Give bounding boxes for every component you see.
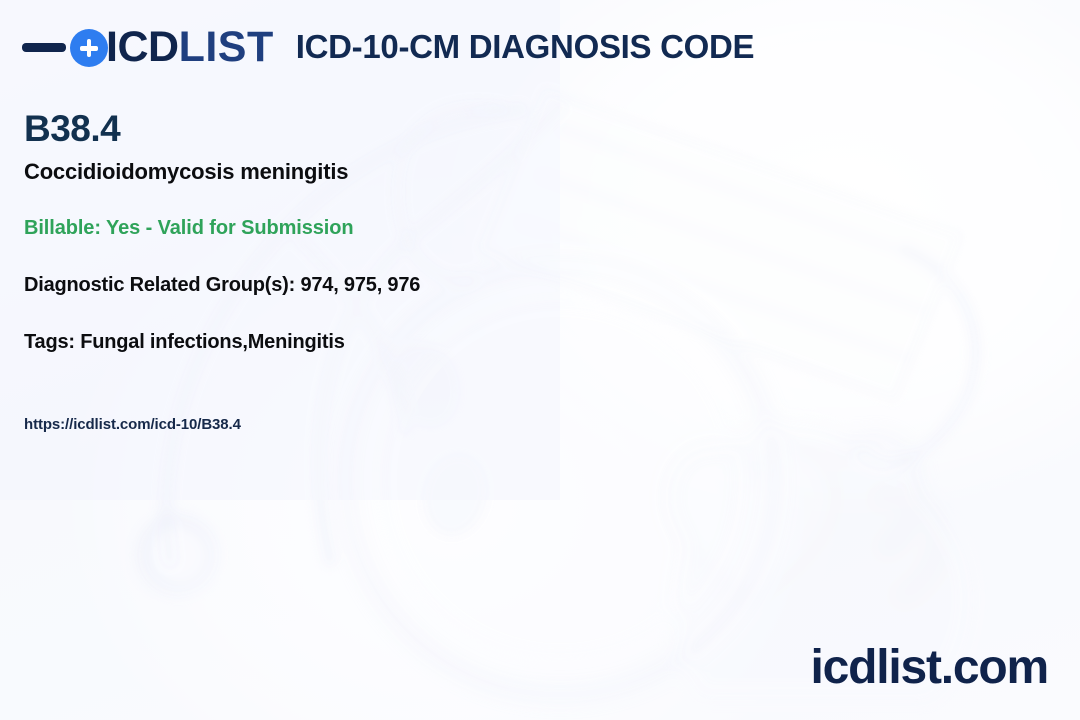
source-url[interactable]: https://icdlist.com/icd-10/B38.4 bbox=[24, 416, 664, 434]
logo-wordmark: ICDLIST bbox=[106, 26, 274, 69]
page-title: ICD-10-CM DIAGNOSIS CODE bbox=[296, 30, 755, 65]
code-details: B38.4 Coccidioidomycosis meningitis Bill… bbox=[24, 110, 664, 434]
site-watermark: icdlist.com bbox=[810, 644, 1048, 692]
logo-wordmark-icd: ICD bbox=[106, 23, 179, 71]
logo-wordmark-list: LIST bbox=[179, 23, 274, 71]
diagnosis-description: Coccidioidomycosis meningitis bbox=[24, 159, 664, 185]
plus-in-circle-icon bbox=[70, 29, 108, 67]
diagnostic-related-groups: Diagnostic Related Group(s): 974, 975, 9… bbox=[24, 273, 664, 297]
icd-code-card: ICDLIST ICD-10-CM DIAGNOSIS CODE B38.4 C… bbox=[0, 0, 1080, 720]
page-header: ICDLIST ICD-10-CM DIAGNOSIS CODE bbox=[22, 26, 754, 69]
dash-icon bbox=[22, 43, 66, 52]
billable-status: Billable: Yes - Valid for Submission bbox=[24, 216, 664, 240]
tags-line: Tags: Fungal infections,Meningitis bbox=[24, 330, 664, 354]
diagnosis-code: B38.4 bbox=[24, 110, 664, 149]
icdlist-logo[interactable]: ICDLIST bbox=[22, 26, 274, 69]
